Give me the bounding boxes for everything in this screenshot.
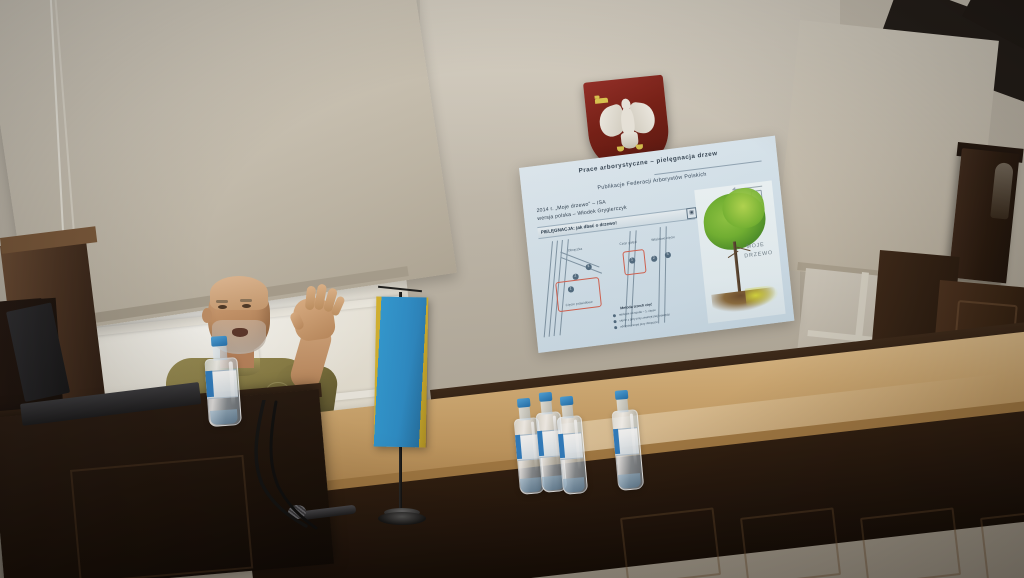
legend-bullet-1 (613, 314, 617, 318)
speaker-ear (202, 308, 212, 323)
diagram2-stem-4 (664, 226, 667, 322)
water-bottle-podium[interactable] (203, 337, 245, 427)
eagle-crown (595, 98, 608, 104)
bottle-base (520, 477, 542, 493)
microphone-cable (250, 400, 370, 530)
bottle-neck (519, 406, 531, 421)
diagram-label-collar: Obrączka (568, 247, 583, 253)
speaker-mouth (232, 328, 248, 337)
tree-illustration-panel: MOJE DRZEWO (694, 180, 785, 323)
diagram2-step-3: 3 (665, 252, 671, 258)
eagle-claw-right (636, 144, 643, 150)
diagram2-step-2: 2 (651, 255, 657, 261)
speaker-eye-right (242, 304, 251, 308)
flag-shading (373, 297, 430, 448)
diagram-label-proper-cut: Właściwe cięcie (651, 235, 675, 242)
projected-slide: Prace arborystyczne – pielęgnacja drzew … (519, 136, 794, 353)
cover-title-line2: DRZEWO (744, 250, 773, 260)
pruning-diagram: Obrączka 3 2 1 Cięcie prawidłowe Czop ga… (537, 221, 705, 344)
cover-title-line1: MOJE (746, 242, 765, 250)
bottle-base (210, 409, 238, 425)
diagram-highlight-box-1 (555, 277, 602, 312)
diagram-stem-line (544, 241, 553, 337)
white-eagle-icon (594, 90, 660, 158)
tree-grass (745, 284, 781, 308)
bottle-cap[interactable] (517, 398, 531, 408)
diagram-step-1: 1 (568, 286, 574, 292)
bottle-neck (540, 400, 552, 415)
diagram2-step-1: 1 (629, 257, 635, 263)
flag-stand-base (378, 512, 426, 525)
table-panel (860, 507, 961, 578)
legend-bullet-3 (614, 326, 618, 330)
legend-bullet-2 (613, 320, 617, 324)
diagram-step-3: 3 (585, 264, 591, 270)
table-panel (980, 507, 1024, 578)
slide-surface: Prace arborystyczne – pielęgnacja drzew … (519, 136, 794, 353)
lectern-panel (70, 455, 253, 578)
bottle-cap[interactable] (211, 336, 228, 347)
eagle-head (621, 98, 631, 110)
bottle-base (563, 477, 585, 493)
bottle-neck (616, 398, 628, 413)
table-panel (620, 507, 721, 578)
eagle-claw-left (617, 146, 624, 152)
speaker-brow-right (240, 299, 252, 302)
bottle-base (618, 473, 641, 489)
speaker-eye-left (218, 305, 227, 309)
bottle-cap[interactable] (615, 390, 629, 400)
bottle-neck (561, 404, 573, 419)
bottle-cap[interactable] (539, 392, 553, 402)
speaker-brow-left (216, 300, 228, 303)
table-panel (740, 507, 841, 578)
diagram2-stem-3 (658, 227, 661, 323)
bottle-cap[interactable] (560, 396, 574, 406)
conference-room-photo: Prace arborystyczne – pielęgnacja drzew … (0, 0, 1024, 578)
